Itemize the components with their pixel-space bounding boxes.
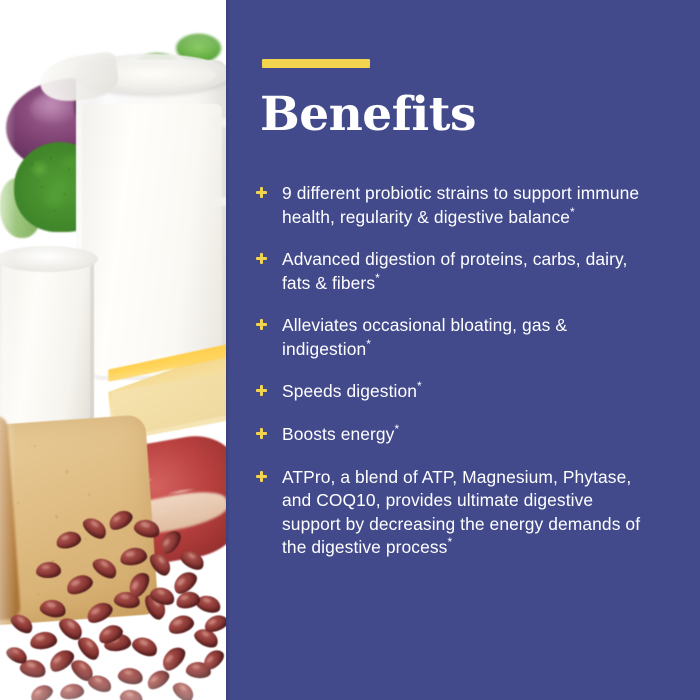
kidney-bean xyxy=(130,633,161,659)
benefits-list: 9 different probiotic strains to support… xyxy=(256,182,652,560)
kidney-bean xyxy=(132,517,162,541)
kidney-bean xyxy=(84,599,116,627)
footnote-asterisk: * xyxy=(366,337,371,351)
footnote-asterisk: * xyxy=(394,422,399,436)
kidney-bean xyxy=(166,612,196,636)
footnote-asterisk: * xyxy=(447,536,452,550)
kidney-bean xyxy=(80,514,110,543)
plus-bullet-icon xyxy=(256,385,267,396)
benefits-content-panel: Benefits 9 different probiotic strains t… xyxy=(226,0,700,700)
kidney-bean xyxy=(106,507,136,533)
plus-bullet-icon xyxy=(256,428,267,439)
benefit-text: ATPro, a blend of ATP, Magnesium, Phytas… xyxy=(282,467,640,558)
kidney-bean xyxy=(36,562,62,579)
kidney-bean xyxy=(90,554,121,582)
plus-bullet-icon xyxy=(256,253,267,264)
kidney-bean xyxy=(157,527,185,557)
kidney-bean xyxy=(54,529,82,551)
kidney-bean xyxy=(119,687,145,700)
benefit-text: 9 different probiotic strains to support… xyxy=(282,183,639,227)
kidney-bean xyxy=(178,547,208,573)
footnote-asterisk: * xyxy=(417,380,422,394)
benefit-text: Speeds digestion xyxy=(282,381,417,401)
benefit-text: Alleviates occasional bloating, gas & in… xyxy=(282,315,567,359)
benefits-card: Benefits 9 different probiotic strains t… xyxy=(0,0,700,700)
kidney-bean xyxy=(117,666,144,686)
footnote-asterisk: * xyxy=(375,271,380,285)
kidney-beans-image xyxy=(0,0,226,700)
plus-bullet-icon xyxy=(256,187,267,198)
benefit-text: Advanced digestion of proteins, carbs, d… xyxy=(282,249,627,293)
benefit-item: Alleviates occasional bloating, gas & in… xyxy=(256,314,652,361)
accent-bar xyxy=(262,59,370,68)
benefit-text: Boosts energy xyxy=(282,424,394,444)
footnote-asterisk: * xyxy=(570,205,575,219)
benefit-item: ATPro, a blend of ATP, Magnesium, Phytas… xyxy=(256,466,652,560)
benefit-item: 9 different probiotic strains to support… xyxy=(256,182,652,229)
kidney-bean xyxy=(39,597,68,619)
kidney-bean xyxy=(29,630,58,651)
benefit-item: Advanced digestion of proteins, carbs, d… xyxy=(256,248,652,295)
food-photo-panel xyxy=(0,0,226,700)
kidney-bean xyxy=(64,572,95,598)
plus-bullet-icon xyxy=(256,471,267,482)
food-photo xyxy=(0,0,226,700)
panel-divider xyxy=(226,0,230,700)
plus-bullet-icon xyxy=(256,319,267,330)
benefit-item: Boosts energy* xyxy=(256,423,652,447)
kidney-bean xyxy=(59,682,85,700)
benefit-item: Speeds digestion* xyxy=(256,380,652,404)
page-title: Benefits xyxy=(260,91,476,138)
kidney-bean xyxy=(170,678,197,700)
kidney-bean xyxy=(147,549,175,579)
kidney-bean xyxy=(8,610,36,636)
kidney-bean xyxy=(28,682,55,700)
kidney-bean xyxy=(119,546,149,567)
